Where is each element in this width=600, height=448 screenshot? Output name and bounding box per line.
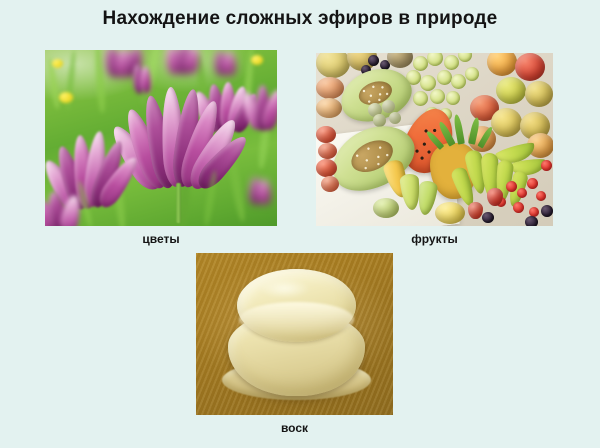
fruit-currant: [527, 178, 538, 189]
figure-wax: воск: [196, 253, 393, 415]
fruit-grape: [444, 55, 459, 70]
figure-flowers: цветы: [45, 50, 277, 226]
photo-wax: [196, 253, 393, 415]
fruit-watermelon-piece: [321, 176, 339, 192]
caption-fruits: фрукты: [411, 232, 457, 246]
fruit-currant: [513, 202, 524, 213]
photo-flowers: [45, 50, 277, 226]
tulip-background: [166, 50, 200, 77]
fruit-grape: [451, 74, 466, 89]
caption-flowers: цветы: [142, 232, 179, 246]
fruit-blackberry: [525, 216, 538, 226]
tulip-bottom-right: [249, 177, 275, 207]
fruit-apple-yellow: [525, 81, 553, 107]
wax-block-rim: [239, 302, 353, 338]
fruit-peach: [316, 98, 342, 118]
fruit-blackberry: [482, 212, 494, 223]
fruit-grape: [430, 89, 445, 104]
melon-ball: [382, 100, 395, 113]
fruit-strawberry: [468, 202, 483, 219]
tulip-right-edge: [245, 85, 277, 135]
fruit-apple-red: [515, 53, 545, 81]
fruit-watermelon-piece: [316, 159, 337, 177]
caption-wax: воск: [281, 421, 308, 435]
fruit-lemon: [435, 202, 465, 224]
melon-ball: [373, 114, 386, 127]
page-title: Нахождение сложных эфиров в природе: [0, 8, 600, 30]
fruit-currant: [506, 181, 517, 192]
fruit-strawberry: [487, 188, 503, 206]
yellow-wildflower: [52, 59, 63, 68]
fruit-blackberry: [368, 55, 379, 66]
photo-fruits: [316, 53, 553, 226]
slide-canvas: Нахождение сложных эфиров в природе: [0, 0, 600, 448]
tulip-main: [124, 87, 236, 197]
tulip-background: [214, 50, 240, 78]
fruit-watermelon-piece: [316, 126, 336, 143]
figure-fruits: фрукты: [316, 53, 553, 226]
